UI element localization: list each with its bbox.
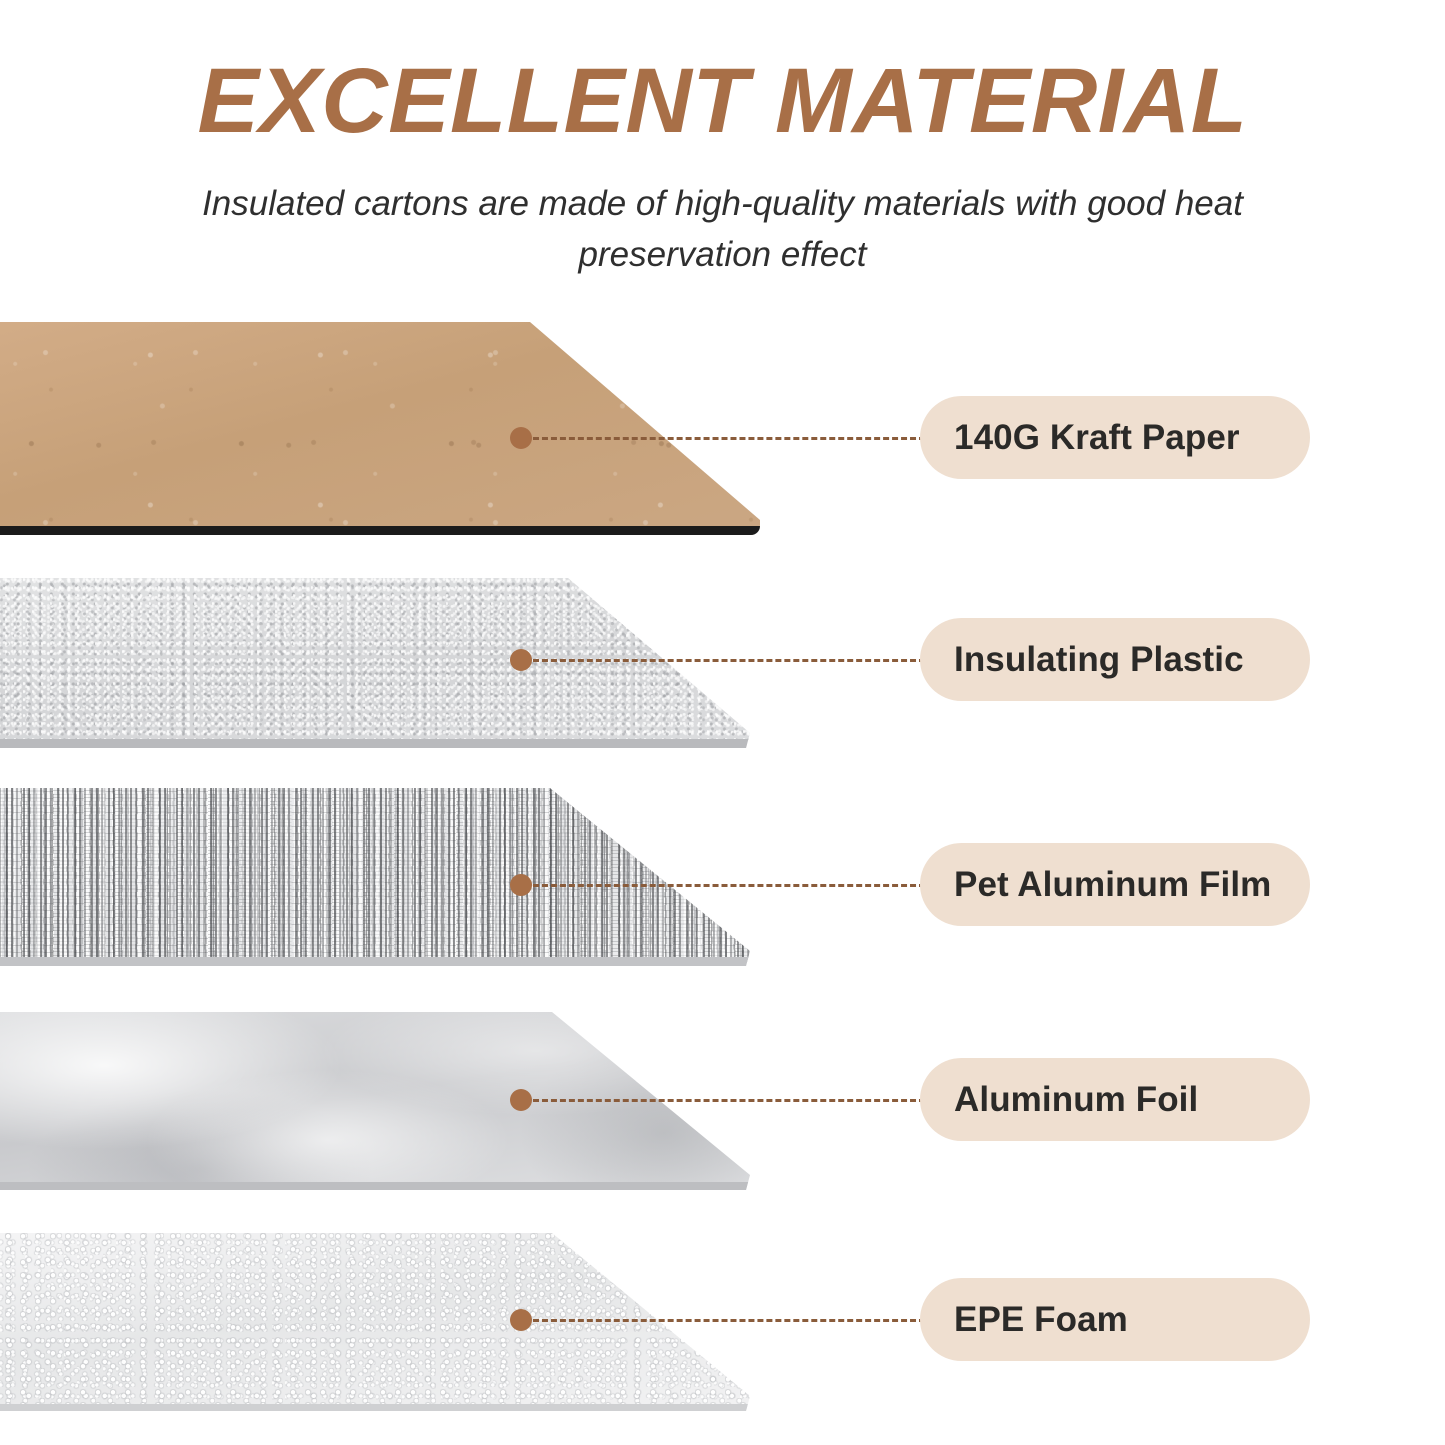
- label-text: Aluminum Foil: [954, 1080, 1198, 1120]
- connector-dashed-line: [533, 884, 925, 887]
- kraft-paper-edge: [0, 526, 760, 535]
- connector-kraft-paper: [510, 426, 925, 450]
- pet-aluminum-film-edge: [0, 957, 760, 966]
- label-pill-kraft-paper[interactable]: 140G Kraft Paper: [920, 396, 1310, 479]
- aluminum-foil-edge: [0, 1182, 760, 1190]
- label-pill-pet-aluminum-film[interactable]: Pet Aluminum Film: [920, 843, 1310, 926]
- connector-dot-icon: [510, 427, 532, 449]
- label-text: EPE Foam: [954, 1300, 1128, 1340]
- label-text: Pet Aluminum Film: [954, 865, 1271, 905]
- connector-dot-icon: [510, 1309, 532, 1331]
- connector-dashed-line: [533, 1319, 925, 1322]
- label-text: 140G Kraft Paper: [954, 418, 1240, 458]
- connector-aluminum-foil: [510, 1088, 925, 1112]
- connector-dashed-line: [533, 437, 925, 440]
- insulating-plastic-edge: [0, 739, 760, 748]
- connector-pet-aluminum-film: [510, 873, 925, 897]
- connector-dot-icon: [510, 874, 532, 896]
- label-pill-aluminum-foil[interactable]: Aluminum Foil: [920, 1058, 1310, 1141]
- epe-foam-edge: [0, 1404, 760, 1411]
- connector-dashed-line: [533, 1099, 925, 1102]
- connector-dashed-line: [533, 659, 925, 662]
- label-pill-epe-foam[interactable]: EPE Foam: [920, 1278, 1310, 1361]
- connector-insulating-plastic: [510, 648, 925, 672]
- connector-dot-icon: [510, 649, 532, 671]
- label-pill-insulating-plastic[interactable]: Insulating Plastic: [920, 618, 1310, 701]
- material-layer-stack: [0, 0, 1445, 1445]
- label-text: Insulating Plastic: [954, 640, 1244, 680]
- connector-epe-foam: [510, 1308, 925, 1332]
- connector-dot-icon: [510, 1089, 532, 1111]
